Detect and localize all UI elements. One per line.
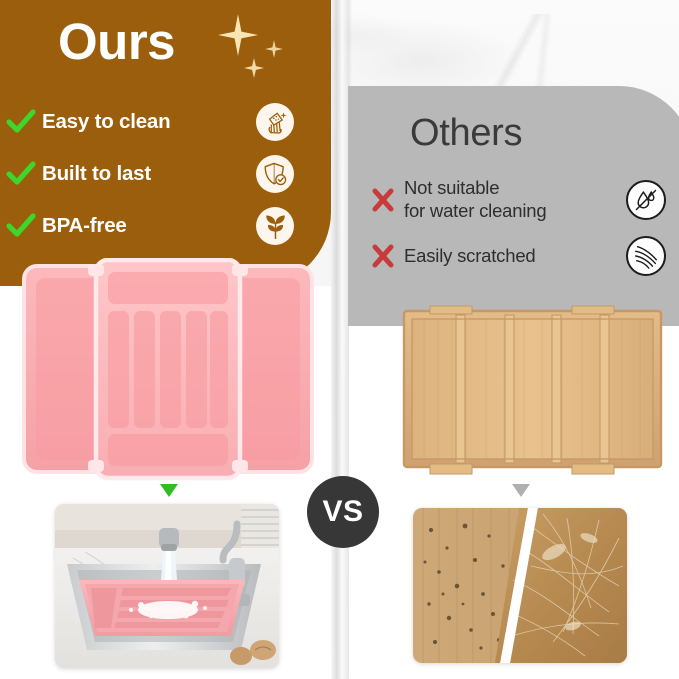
ours-feature-label: Built to last (42, 163, 151, 186)
sink-washing-photo (55, 504, 279, 668)
others-feature-label: Easily scratched (404, 245, 536, 268)
comparison-infographic: Ours Easy to clean (0, 0, 679, 679)
ours-feature-label: Easy to clean (42, 111, 170, 134)
scratch-lines-icon (626, 236, 666, 276)
cleaning-hand-icon (256, 103, 294, 141)
check-icon (0, 161, 42, 187)
ours-feature-row: Built to last (0, 150, 300, 198)
check-icon (0, 109, 42, 135)
vs-badge: VS (307, 476, 379, 548)
scratched-moldy-wood-photo (413, 508, 627, 663)
check-icon (0, 213, 42, 239)
others-feature-label: Not suitable for water cleaning (404, 177, 546, 222)
no-water-icon (626, 180, 666, 220)
others-feature-row: Not suitable for water cleaning (362, 172, 672, 228)
ours-panel: Ours Easy to clean (0, 0, 331, 286)
ours-title: Ours (58, 12, 175, 71)
cross-icon (362, 243, 404, 269)
bamboo-drawer-organizer-product (400, 305, 665, 477)
ours-feature-label: BPA-free (42, 215, 127, 238)
sparkles-icon (208, 10, 294, 82)
ours-feature-list: Easy to clean (0, 98, 300, 254)
leaf-plant-icon (256, 207, 294, 245)
others-panel: Others Not suitable for water cleaning (348, 86, 679, 326)
others-title: Others (410, 112, 522, 155)
others-feature-row: Easily scratched (362, 228, 672, 284)
cross-icon (362, 187, 404, 213)
ours-feature-row: BPA-free (0, 202, 300, 250)
others-feature-list: Not suitable for water cleaning (362, 172, 672, 284)
pink-drawer-organizer-product (18, 258, 318, 483)
ours-feature-row: Easy to clean (0, 98, 300, 146)
down-arrow-green (160, 484, 178, 497)
down-arrow-gray (512, 484, 530, 497)
shield-check-icon (256, 155, 294, 193)
